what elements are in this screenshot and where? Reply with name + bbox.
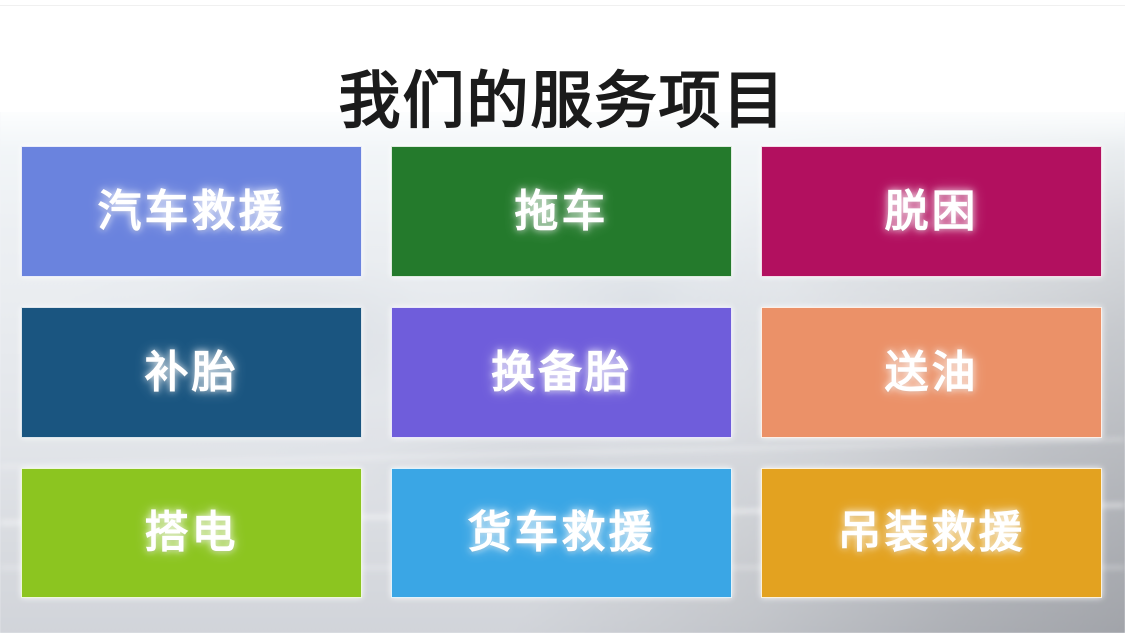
service-tile-label: 货车救援 (468, 511, 656, 555)
service-tile-label: 拖车 (515, 190, 609, 234)
service-tile-fuel-delivery[interactable]: 送油 (761, 307, 1102, 438)
service-tile-jump-start[interactable]: 搭电 (21, 468, 362, 598)
background-hairline (0, 5, 1125, 6)
service-grid: 汽车救援 拖车 脱困 补胎 换备胎 送油 搭电 货车救援 吊装救援 (21, 146, 1103, 598)
service-poster: 我们的服务项目 汽车救援 拖车 脱困 补胎 换备胎 送油 搭电 货车救援 吊装救… (0, 0, 1125, 633)
service-tile-extrication[interactable]: 脱困 (761, 146, 1102, 277)
service-tile-label: 脱困 (885, 190, 979, 234)
service-tile-label: 搭电 (145, 511, 239, 555)
service-tile-label: 吊装救援 (838, 511, 1026, 555)
service-tile-label: 送油 (885, 351, 979, 395)
service-tile-truck-rescue[interactable]: 货车救援 (391, 468, 732, 598)
service-tile-label: 汽车救援 (98, 190, 286, 234)
service-tile-car-rescue[interactable]: 汽车救援 (21, 146, 362, 277)
service-tile-crane-rescue[interactable]: 吊装救援 (761, 468, 1102, 598)
service-tile-tire-repair[interactable]: 补胎 (21, 307, 362, 438)
service-tile-label: 补胎 (145, 351, 239, 395)
service-tile-spare-tire-change[interactable]: 换备胎 (391, 307, 732, 438)
page-title: 我们的服务项目 (0, 64, 1125, 138)
service-tile-label: 换备胎 (491, 351, 632, 395)
service-tile-towing[interactable]: 拖车 (391, 146, 732, 277)
